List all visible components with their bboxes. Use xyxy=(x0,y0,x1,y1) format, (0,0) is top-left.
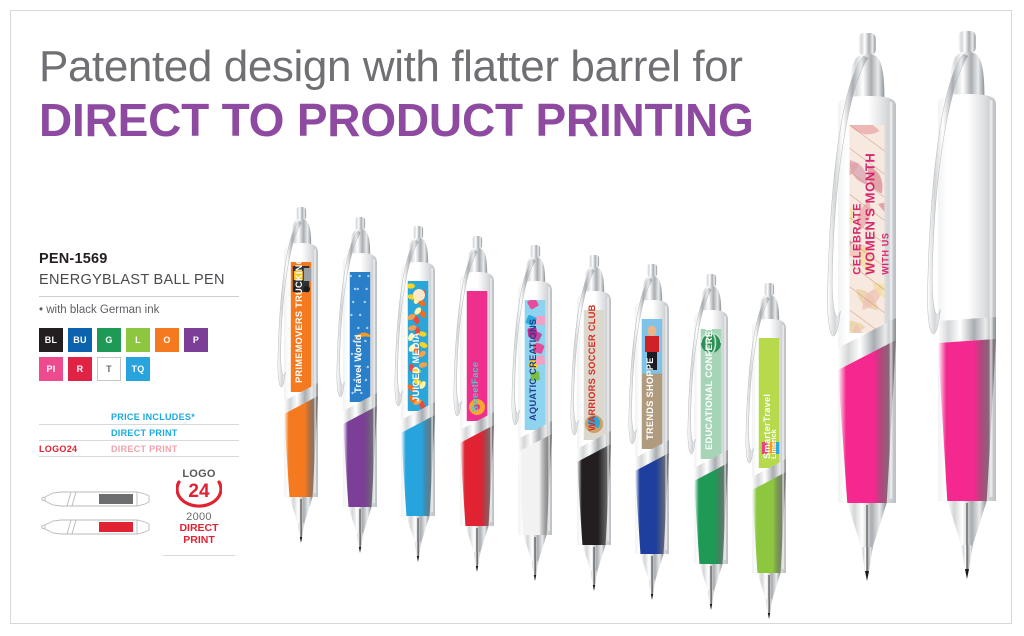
pen-smartertravel[interactable]: SmarterTravelLimerick xyxy=(741,283,797,624)
pen-warriors[interactable]: WARRIORS SOCCER CLUB xyxy=(566,255,622,625)
pen-label-line-3: WITH US xyxy=(881,233,891,275)
pen-lineup: PRIMEMOVERS TRUCKINGTravel WorldJUICED M… xyxy=(11,11,1011,623)
pen-trends-shoppe[interactable]: TRENDS SHOPPE xyxy=(624,264,680,624)
pen-plunger xyxy=(354,217,364,230)
pen-label-text: JUICED MEDIA xyxy=(411,332,421,402)
pen-plunger xyxy=(858,33,875,55)
pen-highlight xyxy=(548,287,550,531)
pen-juiced-media[interactable]: JUICED MEDIA xyxy=(390,226,446,606)
pen-label-text: TRENDS SHOPPE xyxy=(645,357,655,440)
pen-highlight xyxy=(490,278,492,522)
pen-label-text: Travel World xyxy=(353,334,363,393)
pen-label-text: SweetFace xyxy=(470,361,480,411)
pen-nib xyxy=(592,585,594,591)
pen-label-text: EDUCATIONAL CONFERENCE xyxy=(704,310,714,449)
pen-educational-conference-svg: EDUCATIONAL CONFERENCE xyxy=(683,274,739,625)
pen-label-text: PRIMEMOVERS TRUCKING xyxy=(294,257,304,383)
pen-primemovers-svg: PRIMEMOVERS TRUCKING xyxy=(273,207,329,587)
pen-chrome-band xyxy=(938,317,996,343)
pen-womens-month[interactable]: CELEBRATEWOMEN'S MONTHWITH US xyxy=(819,33,915,613)
pen-highlight xyxy=(431,268,433,512)
pen-travel-world-svg: Travel World xyxy=(332,217,388,597)
catalog-page: Patented design with flatter barrel for … xyxy=(10,10,1012,624)
pen-warriors-svg: WARRIORS SOCCER CLUB xyxy=(566,255,622,625)
pen-aquatic-creations-svg: AQUATIC CREATIONS xyxy=(507,245,563,624)
pen-plunger xyxy=(764,283,774,296)
pen-plunger xyxy=(647,264,657,277)
pen-plunger xyxy=(958,31,975,53)
pen-plunger xyxy=(588,255,598,268)
pen-aquatic-creations[interactable]: AQUATIC CREATIONS xyxy=(507,245,563,624)
pen-nib xyxy=(417,556,419,562)
pen-sweetface[interactable]: SweetFace xyxy=(449,236,505,616)
pen-smartertravel-svg: SmarterTravelLimerick xyxy=(741,283,797,624)
pen-grip xyxy=(938,339,996,501)
pen-highlight xyxy=(890,102,893,499)
pen-plunger xyxy=(705,274,715,287)
pen-label-subtext: Limerick xyxy=(769,429,778,459)
pen-plunger xyxy=(296,207,306,220)
pen-nib xyxy=(709,604,711,610)
pen-highlight xyxy=(782,325,784,569)
pen-highlight xyxy=(724,316,726,560)
pen-nib xyxy=(768,613,770,619)
pen-blank-pink[interactable] xyxy=(919,31,1012,611)
pen-nib xyxy=(358,547,360,553)
pen-sweetface-svg: SweetFace xyxy=(449,236,505,616)
pen-plunger xyxy=(471,236,481,249)
pen-nib xyxy=(300,537,302,543)
pen-travel-world[interactable]: Travel World xyxy=(332,217,388,597)
pen-nib xyxy=(865,571,869,581)
pen-womens-month-svg: CELEBRATEWOMEN'S MONTHWITH US xyxy=(819,33,915,613)
pen-label-text: WARRIORS SOCCER CLUB xyxy=(587,304,597,431)
pen-label-line-2: WOMEN'S MONTH xyxy=(863,153,878,275)
pen-nib xyxy=(651,594,653,600)
pen-highlight xyxy=(990,100,993,497)
pen-nib xyxy=(534,575,536,581)
pen-highlight xyxy=(373,259,375,503)
pen-highlight xyxy=(607,297,609,541)
pen-highlight xyxy=(665,306,667,550)
pen-nib xyxy=(965,569,969,579)
pen-nib xyxy=(475,566,477,572)
pen-trends-shoppe-svg: TRENDS SHOPPE xyxy=(624,264,680,624)
pen-blank-pink-svg xyxy=(919,31,1012,611)
pen-educational-conference[interactable]: EDUCATIONAL CONFERENCE xyxy=(683,274,739,625)
pen-highlight xyxy=(314,249,316,493)
pen-plunger xyxy=(413,226,423,239)
pen-plunger xyxy=(530,245,540,258)
pen-juiced-media-svg: JUICED MEDIA xyxy=(390,226,446,606)
pen-label-text: AQUATIC CREATIONS xyxy=(528,319,538,421)
pen-primemovers[interactable]: PRIMEMOVERS TRUCKING xyxy=(273,207,329,587)
